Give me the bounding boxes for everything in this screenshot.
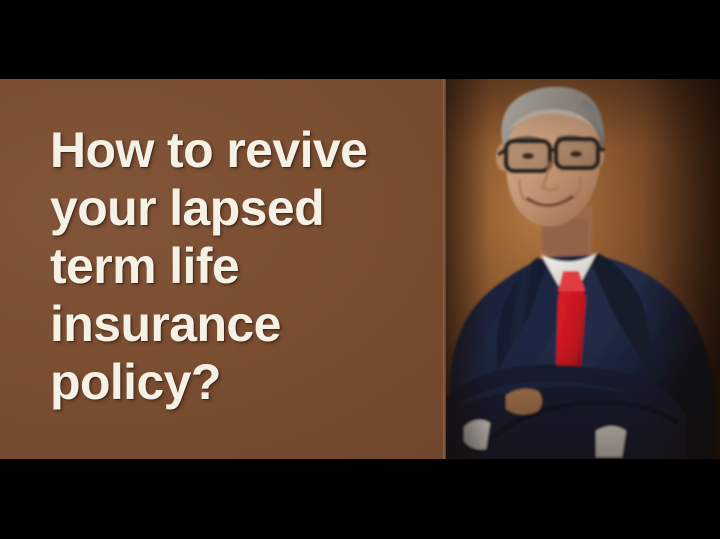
hand (506, 389, 542, 415)
letterbox-bar-bottom (0, 459, 720, 539)
headline-line-3: term life (50, 237, 442, 295)
eyeglasses (498, 139, 604, 171)
portrait-illustration (446, 79, 720, 459)
headline-line-1: How to revive (50, 121, 442, 179)
thumbnail-frame: How to revive your lapsed term life insu… (0, 0, 720, 539)
headline-text: How to revive your lapsed term life insu… (50, 121, 442, 411)
portrait-photo-panel (446, 79, 720, 459)
thumbnail-content: How to revive your lapsed term life insu… (0, 79, 720, 459)
headline-line-5: policy? (50, 353, 442, 411)
letterbox-bar-top (0, 0, 720, 79)
shirt-cuff-right (596, 426, 626, 457)
headline-line-4: insurance (50, 295, 442, 353)
headline-line-2: your lapsed (50, 179, 442, 237)
headline-panel: How to revive your lapsed term life insu… (0, 79, 444, 459)
